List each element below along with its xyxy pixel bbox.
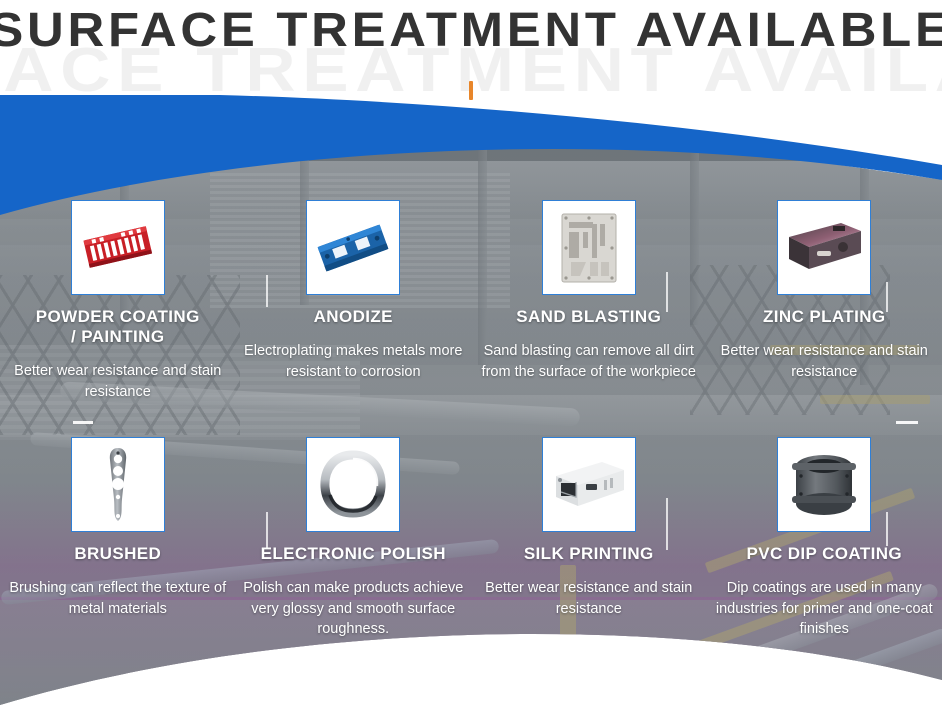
red-slotted-tray-part-icon xyxy=(78,213,158,283)
card-sand-blasting[interactable]: SAND BLASTING Sand blasting can remove a… xyxy=(471,200,707,402)
card-title-line2: / PAINTING xyxy=(71,327,164,346)
thumbnail-powder-coating[interactable] xyxy=(71,200,165,295)
card-desc-electronic-polish: Polish can make products achieve very gl… xyxy=(242,578,466,640)
pvc-dip-coated-flange-part-icon xyxy=(787,452,861,518)
thumbnail-zinc-plating[interactable] xyxy=(777,200,871,295)
column-divider-1 xyxy=(266,275,268,307)
card-title-anodize: ANODIZE xyxy=(242,307,466,327)
column-divider-4 xyxy=(266,512,268,548)
column-divider-2 xyxy=(666,272,668,312)
thumbnail-pvc-dip-coating[interactable] xyxy=(777,437,871,532)
row-separator-dash-left xyxy=(73,421,93,424)
card-row-bottom: BRUSHED Brushing can reflect the texture… xyxy=(0,437,942,640)
card-title-brushed: BRUSHED xyxy=(6,544,230,564)
card-title-zinc-plating: ZINC PLATING xyxy=(713,307,937,327)
card-title-electronic-polish: ELECTRONIC POLISH xyxy=(242,544,466,564)
card-desc-powder-coating: Better wear resistance and stain resista… xyxy=(6,361,230,402)
polished-chrome-ring-part-icon xyxy=(314,449,392,521)
card-brushed[interactable]: BRUSHED Brushing can reflect the texture… xyxy=(0,437,236,640)
thumbnail-brushed[interactable] xyxy=(71,437,165,532)
poster-header: SURFACE TREATMENT AVAILABLE SURFACE TREA… xyxy=(0,0,942,118)
thumbnail-sand-blasting[interactable] xyxy=(542,200,636,295)
card-zinc-plating[interactable]: ZINC PLATING Better wear resistance and … xyxy=(707,200,942,402)
thumbnail-silk-printing[interactable] xyxy=(542,437,636,532)
zinc-plated-enclosure-part-icon xyxy=(783,217,865,279)
card-title-powder-coating: POWDER COATING / PAINTING xyxy=(6,307,230,347)
thumbnail-electronic-polish[interactable] xyxy=(306,437,400,532)
machined-aluminium-plate-part-icon xyxy=(556,210,622,286)
accent-tick-mark xyxy=(469,81,473,100)
thumbnail-anodize[interactable] xyxy=(306,200,400,295)
silk-printed-white-chassis-part-icon xyxy=(548,454,630,516)
column-divider-6 xyxy=(886,512,888,546)
brushed-metal-lever-part-icon xyxy=(95,445,141,525)
column-divider-5 xyxy=(666,498,668,550)
card-silk-printing[interactable]: SILK PRINTING Better wear resistance and… xyxy=(471,437,707,640)
card-desc-brushed: Brushing can reflect the texture of meta… xyxy=(6,578,230,619)
card-desc-sand-blasting: Sand blasting can remove all dirt from t… xyxy=(477,341,701,382)
card-electronic-polish[interactable]: ELECTRONIC POLISH Polish can make produc… xyxy=(236,437,472,640)
card-desc-zinc-plating: Better wear resistance and stain resista… xyxy=(713,341,937,382)
card-title-pvc-dip-coating: PVC DIP COATING xyxy=(713,544,937,564)
blue-anodized-bracket-part-icon xyxy=(313,213,393,283)
card-title-line1: POWDER COATING xyxy=(36,307,200,326)
column-divider-3 xyxy=(886,282,888,312)
card-anodize[interactable]: ANODIZE Electroplating makes metals more… xyxy=(236,200,472,402)
row-separator-dash-right xyxy=(896,421,918,424)
card-desc-pvc-dip-coating: Dip coatings are used in many industries… xyxy=(713,578,937,640)
card-pvc-dip-coating[interactable]: PVC DIP COATING Dip coatings are used in… xyxy=(707,437,942,640)
card-row-top: POWDER COATING / PAINTING Better wear re… xyxy=(0,200,942,402)
surface-treatment-poster: SURFACE TREATMENT AVAILABLE SURFACE TREA… xyxy=(0,0,942,715)
card-desc-anodize: Electroplating makes metals more resista… xyxy=(242,341,466,382)
page-title: SURFACE TREATMENT AVAILABLE xyxy=(0,6,942,56)
card-powder-coating[interactable]: POWDER COATING / PAINTING Better wear re… xyxy=(0,200,236,402)
card-desc-silk-printing: Better wear resistance and stain resista… xyxy=(477,578,701,619)
